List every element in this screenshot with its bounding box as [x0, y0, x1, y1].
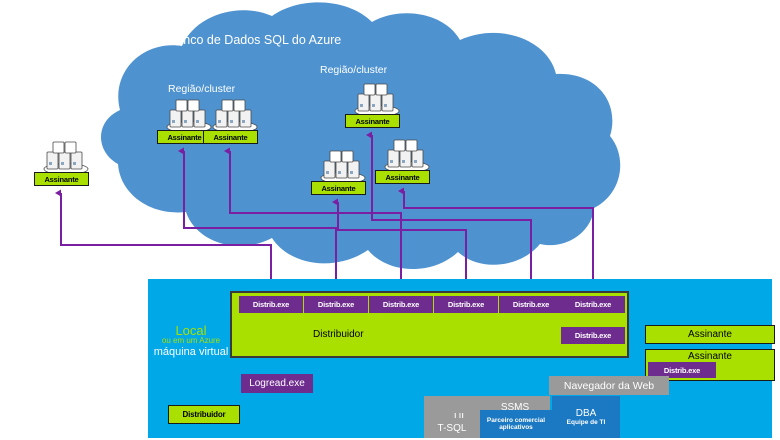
distributor-caption: Distribuidor — [313, 329, 364, 340]
distrib-agent-3[interactable]: Distrib.exe — [369, 296, 433, 313]
local-caption-line2: ou em um Azure — [155, 336, 227, 345]
role-box-partner-apps[interactable]: Parceiro comercialaplicativos — [480, 410, 552, 438]
region-label-2: Região/cluster — [168, 83, 235, 95]
distrib-agent-6[interactable]: Distrib.exe — [561, 296, 625, 313]
local-caption-line3: máquina virtual — [152, 346, 230, 358]
role-partner-label: Parceiro comercialaplicativos — [487, 417, 545, 432]
diagram-canvas: Banco de Dados SQL do Azure Região/clust… — [0, 0, 780, 440]
cloud-subscriber-box-4[interactable]: Assinante — [345, 114, 400, 128]
role-tsql-label: T-SQL — [438, 423, 467, 434]
region-label-1: Região/cluster — [22, 124, 89, 136]
cloud-title: Banco de Dados SQL do Azure — [168, 33, 341, 47]
web-browser-box[interactable]: Navegador da Web — [549, 376, 669, 395]
role-box-dba[interactable]: DBA Equipe de TI — [552, 396, 620, 438]
distributor-database-box[interactable]: Distribuidor — [168, 405, 240, 424]
logread-exe-label[interactable]: Logread.exe — [241, 374, 313, 393]
distrib-agent-2[interactable]: Distrib.exe — [304, 296, 368, 313]
region-label-3: Região/cluster — [320, 64, 387, 76]
distrib-agent-5[interactable]: Distrib.exe — [499, 296, 563, 313]
cloud-subscriber-box-1[interactable]: Assinante — [34, 172, 89, 186]
cloud-subscriber-box-3[interactable]: Assinante — [203, 130, 258, 144]
distrib-agent-7[interactable]: Distrib.exe — [561, 327, 625, 344]
role-box-tsql[interactable]: T-SQL — [424, 418, 480, 438]
role-dba-sublabel: Equipe de TI — [567, 419, 606, 426]
distrib-agent-1[interactable]: Distrib.exe — [239, 296, 303, 313]
distrib-agent-4[interactable]: Distrib.exe — [434, 296, 498, 313]
role-dba-label: DBA — [576, 408, 597, 419]
right-subscriber-box-1[interactable]: Assinante — [645, 325, 775, 344]
cloud-subscriber-box-5[interactable]: Assinante — [311, 181, 366, 195]
cloud-subscriber-box-6[interactable]: Assinante — [375, 170, 430, 184]
